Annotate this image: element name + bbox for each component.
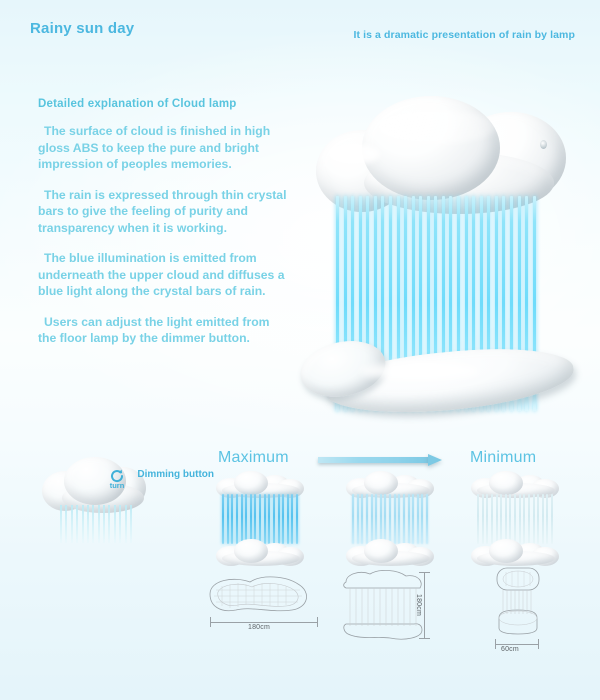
brightness-gradient-arrow xyxy=(318,455,442,465)
rain-bar xyxy=(366,494,368,544)
poster-page: Rainy sun day It is a dramatic presentat… xyxy=(0,0,600,700)
crystal-rain-bars xyxy=(352,494,428,544)
rain-bar xyxy=(287,494,289,544)
rain-bar xyxy=(546,494,548,544)
dimming-button-illustration[interactable]: turn xyxy=(42,455,152,530)
rain-bar xyxy=(514,494,516,544)
rain-bar xyxy=(114,505,116,543)
technical-drawing-front-view: 180cm xyxy=(338,568,430,642)
rain-bar xyxy=(417,494,419,544)
cloud-highlight xyxy=(378,110,496,144)
brightness-min-label: Minimum xyxy=(470,449,536,467)
rain-bar xyxy=(375,494,377,544)
rain-bar xyxy=(76,505,78,543)
rain-bar xyxy=(491,494,493,544)
rain-bar xyxy=(108,505,110,543)
rain-bar xyxy=(361,494,363,544)
dimension-side-width: 60cm xyxy=(501,646,519,653)
rain-bar xyxy=(533,494,535,544)
rain-bar xyxy=(241,494,243,544)
mini-cloud-base xyxy=(469,538,561,566)
rain-bar xyxy=(486,494,488,544)
rain-bar xyxy=(60,505,62,543)
top-view-outline xyxy=(200,572,320,614)
dimension-line xyxy=(210,622,318,623)
dimension-top-width: 180cm xyxy=(248,624,270,631)
page-tagline: It is a dramatic presentation of rain by… xyxy=(353,29,575,41)
cloud-highlight xyxy=(328,144,380,164)
explanation-paragraph-4: Users can adjust the light emitted from … xyxy=(38,314,288,347)
rain-bar xyxy=(551,494,553,544)
dimension-front-height: 180cm xyxy=(415,594,422,616)
rain-bar xyxy=(92,505,94,543)
rain-bar xyxy=(231,494,233,544)
rain-bar xyxy=(389,494,391,544)
rain-bar xyxy=(537,494,539,544)
mini-cloud-base xyxy=(214,538,306,566)
rain-bar xyxy=(523,494,525,544)
rain-bar xyxy=(398,494,400,544)
explanation-paragraph-2: The rain is expressed through thin cryst… xyxy=(38,187,288,237)
rain-bar xyxy=(408,494,410,544)
rain-bar xyxy=(291,494,293,544)
dimension-tick xyxy=(317,617,318,627)
explanation-paragraph-1: The surface of cloud is finished in high… xyxy=(38,123,288,173)
crystal-rain-bars xyxy=(477,494,553,544)
rain-bar xyxy=(477,494,479,544)
rain-bar xyxy=(496,494,498,544)
rain-bar xyxy=(227,494,229,544)
rain-bar xyxy=(268,494,270,544)
rain-bar xyxy=(352,494,354,544)
rain-bar xyxy=(130,505,132,543)
page-title: Rainy sun day xyxy=(30,20,134,37)
rain-bar xyxy=(384,494,386,544)
rain-bar xyxy=(254,494,256,544)
rain-bar xyxy=(403,494,405,544)
rain-bar xyxy=(245,494,247,544)
dimension-tick xyxy=(419,572,430,573)
puddle-highlight xyxy=(360,362,480,380)
side-view-outline xyxy=(487,566,549,640)
mini-cloud-base xyxy=(344,538,436,566)
crystal-rain-bars xyxy=(60,505,132,543)
rain-bar xyxy=(296,494,298,544)
rain-bar xyxy=(482,494,484,544)
rain-bar xyxy=(98,505,100,543)
rain-bar xyxy=(250,494,252,544)
cloud-detail-dot xyxy=(540,140,547,149)
turn-badge[interactable]: turn xyxy=(104,469,130,495)
dimension-tick xyxy=(495,639,496,649)
rain-bar xyxy=(380,494,382,544)
dimension-line xyxy=(495,644,539,645)
rain-bar xyxy=(542,494,544,544)
rain-bar xyxy=(65,505,67,543)
turn-badge-label: turn xyxy=(104,481,130,490)
explanation-paragraph-3: The blue illumination is emitted from un… xyxy=(38,250,288,300)
rain-bar xyxy=(282,494,284,544)
technical-drawing-top-view: 180cm xyxy=(200,572,320,630)
arrow-shaft xyxy=(318,457,430,463)
rain-bar xyxy=(82,505,84,543)
puddle-base xyxy=(300,338,590,416)
crystal-rain-bars xyxy=(222,494,298,544)
lamp-variant-medium xyxy=(338,470,442,566)
rain-bar xyxy=(394,494,396,544)
dimension-line xyxy=(424,572,425,638)
rain-bar xyxy=(264,494,266,544)
rain-bar xyxy=(103,505,105,543)
dimension-tick xyxy=(210,617,211,627)
rain-bar xyxy=(371,494,373,544)
rain-bar xyxy=(278,494,280,544)
technical-drawing-side-view: 60cm xyxy=(487,566,549,644)
lamp-variant-minimum xyxy=(463,470,567,566)
rain-bar xyxy=(259,494,261,544)
dimension-tick xyxy=(419,638,430,639)
explanation-block: Detailed explanation of Cloud lamp The s… xyxy=(38,98,288,361)
rain-bar xyxy=(528,494,530,544)
rain-bar xyxy=(505,494,507,544)
lamp-variant-maximum xyxy=(208,470,312,566)
rain-bar xyxy=(119,505,121,543)
rain-bar xyxy=(236,494,238,544)
rain-bar xyxy=(412,494,414,544)
dimension-tick xyxy=(538,639,539,649)
explanation-heading: Detailed explanation of Cloud lamp xyxy=(38,98,288,110)
rain-bar xyxy=(500,494,502,544)
rain-bar xyxy=(222,494,224,544)
dimming-button-label: Dimming button xyxy=(134,468,214,481)
rain-bar xyxy=(519,494,521,544)
rain-bar xyxy=(125,505,127,543)
rain-bar xyxy=(421,494,423,544)
brightness-max-label: Maximum xyxy=(218,449,289,467)
cloud-lamp-hero-image xyxy=(296,86,596,416)
rain-bar xyxy=(71,505,73,543)
rain-bar xyxy=(426,494,428,544)
rain-bar xyxy=(87,505,89,543)
arrow-head xyxy=(428,454,442,466)
rain-bar xyxy=(357,494,359,544)
rain-bar xyxy=(273,494,275,544)
rain-bar xyxy=(509,494,511,544)
